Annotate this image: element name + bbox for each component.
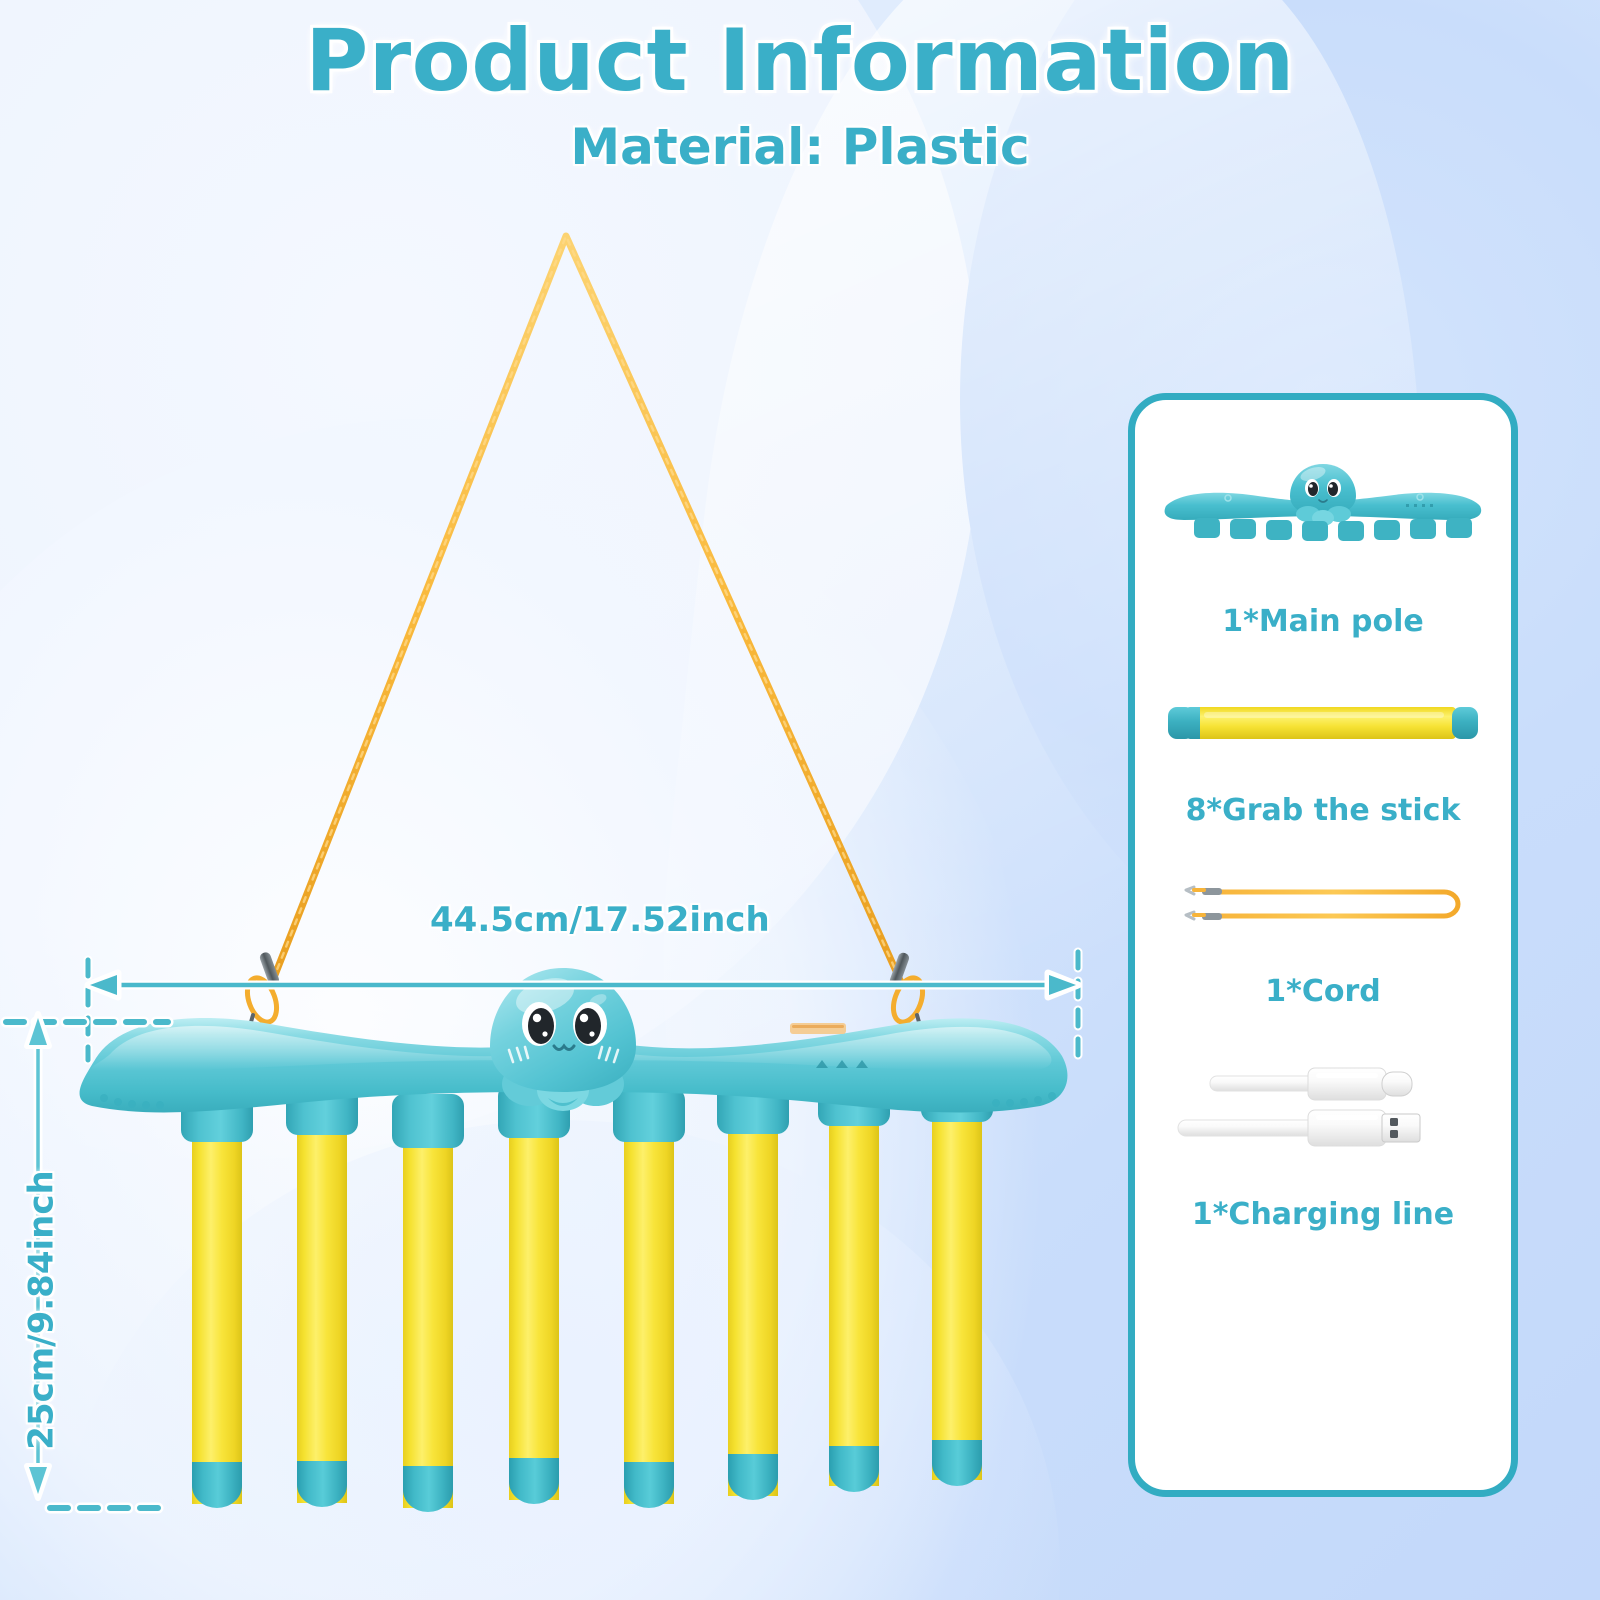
grab-stick-3: [392, 1094, 464, 1512]
grab-stick-4: [498, 1084, 570, 1504]
part-art-cord: [1135, 868, 1511, 940]
grab-stick-1: [181, 1088, 253, 1508]
part-label-grab-stick: 8*Grab the stick: [1186, 793, 1461, 828]
hanging-cord: [273, 236, 900, 980]
grab-stick-5: [613, 1088, 685, 1508]
header: Product Information Material: Plastic: [0, 18, 1600, 176]
charging-line-icon: [1158, 1048, 1488, 1168]
parts-list-card: 1*Main pole 8*Gr: [1128, 393, 1518, 1497]
product-illustration: 44.5cm/17.52inch 25cm/9.84inch: [0, 0, 1120, 1600]
grab-sticks: [181, 1068, 993, 1512]
product-svg: [0, 0, 1120, 1600]
part-label-cord: 1*Cord: [1265, 974, 1380, 1009]
grab-stick-6: [717, 1080, 789, 1500]
part-label-main-pole: 1*Main pole: [1222, 604, 1423, 639]
part-art-grab-stick: [1135, 683, 1511, 763]
width-dimension-label: 44.5cm/17.52inch: [430, 900, 770, 940]
grab-stick-2: [286, 1081, 358, 1507]
grab-stick-8: [921, 1068, 993, 1486]
main-pole-icon: [1158, 448, 1488, 558]
material-subtitle: Material: Plastic: [0, 118, 1600, 176]
part-label-charging-line: 1*Charging line: [1192, 1197, 1454, 1232]
part-art-charging-line: [1135, 1043, 1511, 1173]
height-dimension-label: 25cm/9.84inch: [22, 1170, 62, 1449]
grab-stick-icon: [1160, 700, 1486, 746]
grab-stick-7: [818, 1072, 890, 1492]
page-title: Product Information: [0, 18, 1600, 106]
cord-icon: [1158, 878, 1488, 930]
part-art-main-pole: [1135, 438, 1511, 568]
